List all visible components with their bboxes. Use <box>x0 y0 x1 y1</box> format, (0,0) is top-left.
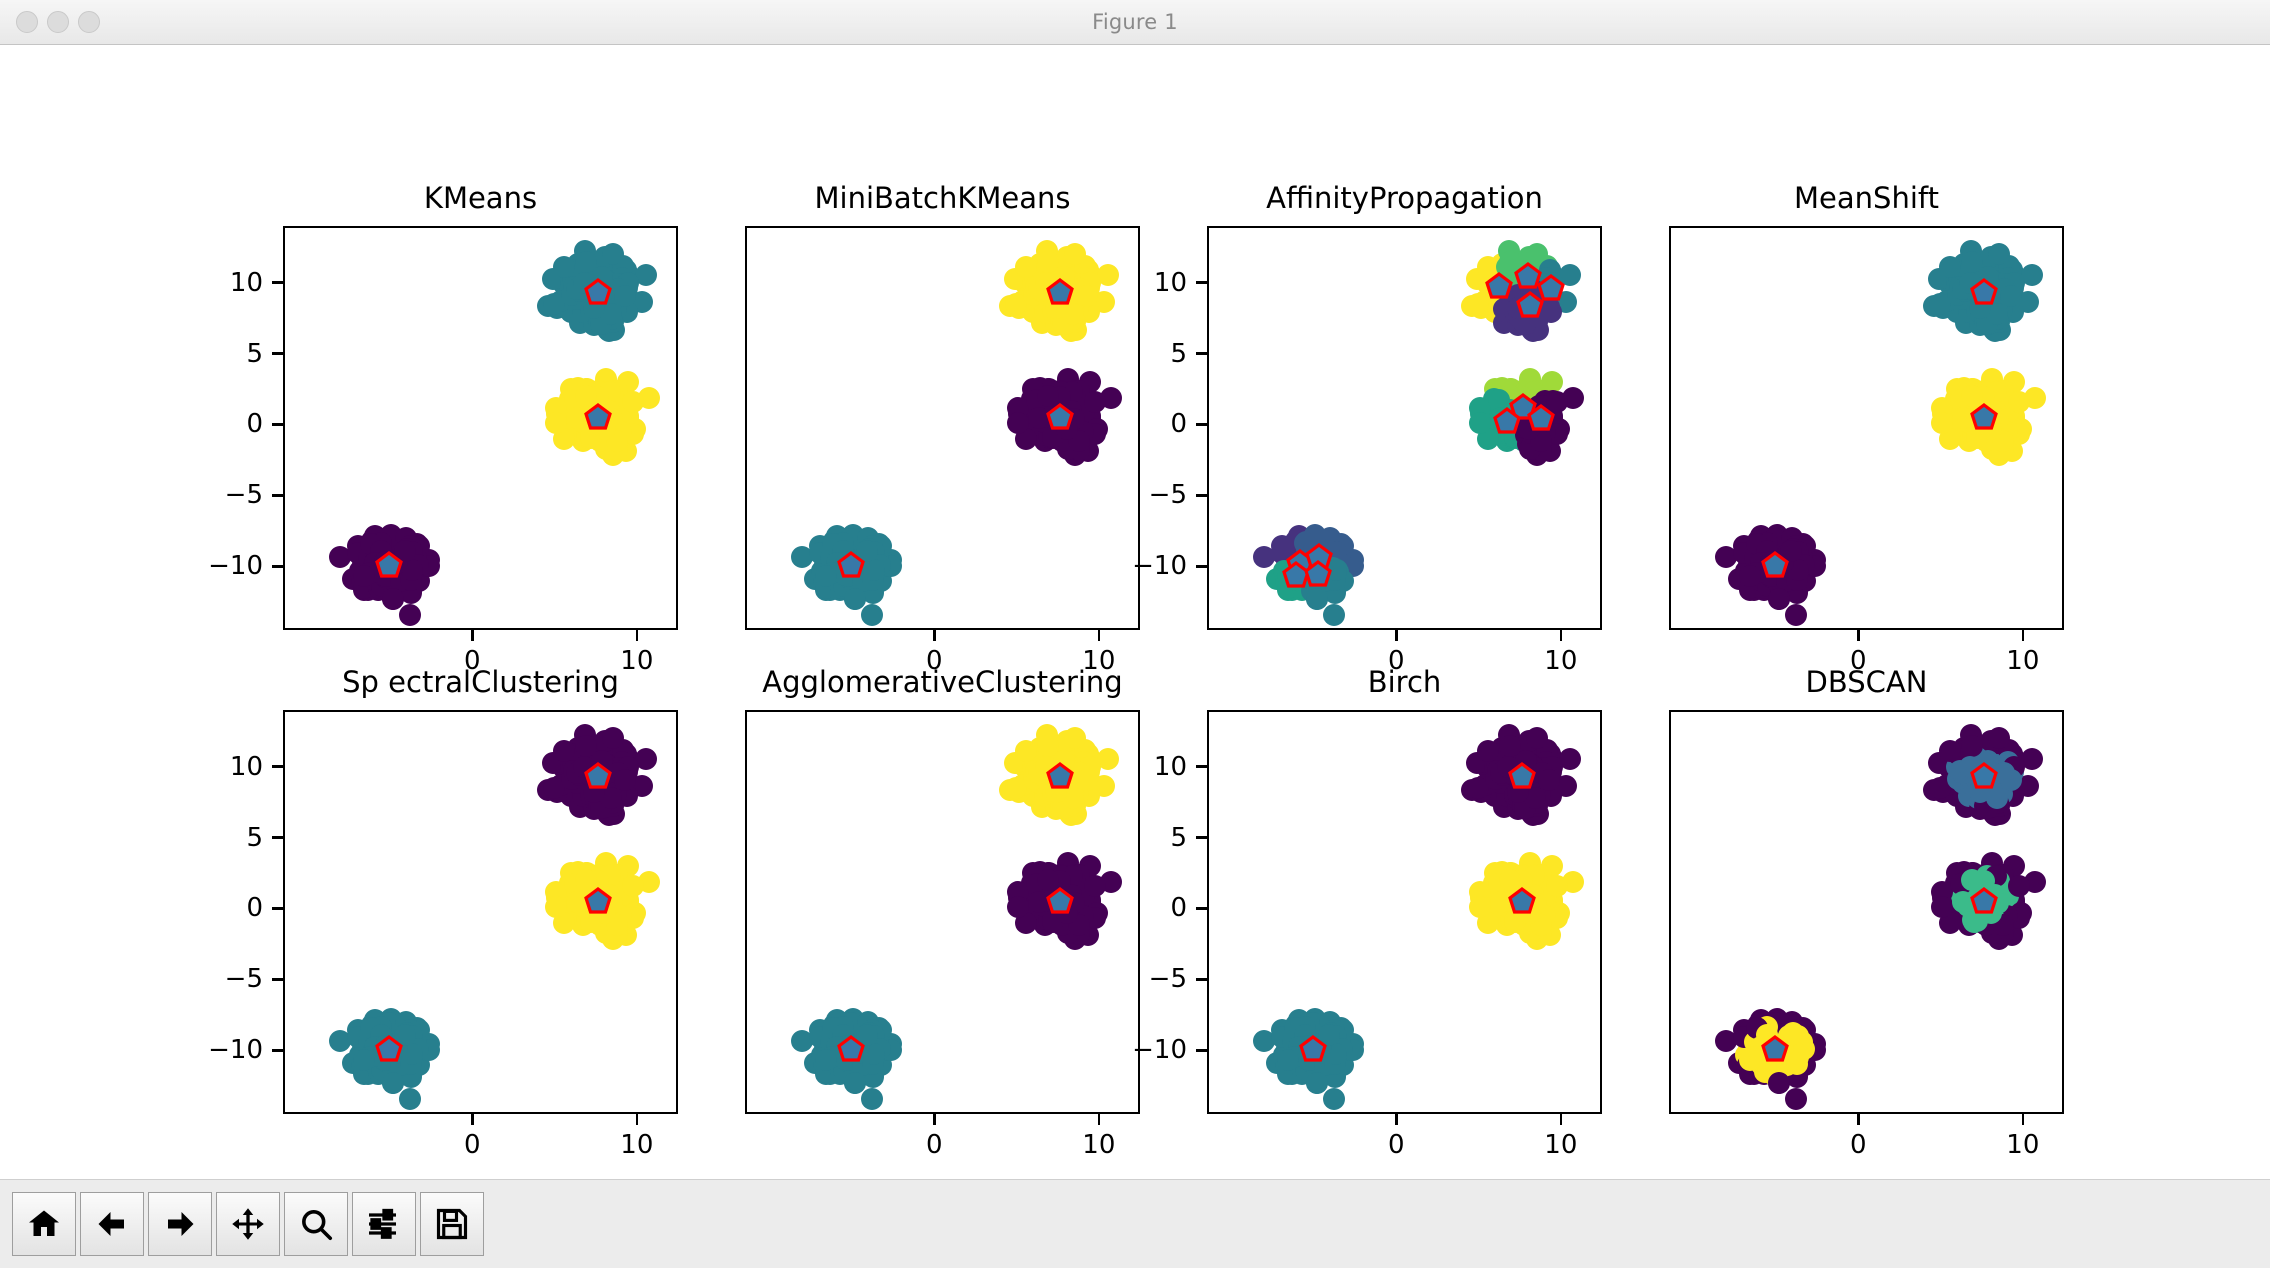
figure-window: Figure 1 KMeans1050−5−10010MiniBatchKMea… <box>0 0 2270 1268</box>
axes-frame[interactable] <box>1669 226 2064 630</box>
y-tick-mark <box>1196 352 1207 355</box>
noise-point <box>2008 875 2030 897</box>
x-tick-mark <box>471 630 474 641</box>
data-point <box>1306 588 1328 610</box>
save-button[interactable] <box>420 1192 484 1256</box>
home-button[interactable] <box>12 1192 76 1256</box>
y-tick-mark <box>1196 765 1207 768</box>
floppy-icon <box>434 1206 470 1242</box>
x-tick-label: 10 <box>1544 1130 1577 1160</box>
subplot-minibatchkmeans: MiniBatchKMeans010 <box>745 226 1140 630</box>
y-tick-label: −10 <box>1132 551 1187 581</box>
configure-subplots-button[interactable] <box>352 1192 416 1256</box>
sliders-icon <box>366 1206 402 1242</box>
data-point <box>575 251 597 273</box>
magnifier-icon <box>298 1206 334 1242</box>
data-point <box>861 604 883 626</box>
y-tick-label: 10 <box>230 268 263 298</box>
axes-frame[interactable] <box>1207 710 1602 1114</box>
y-tick-mark <box>272 765 283 768</box>
data-point <box>1064 727 1086 749</box>
data-point <box>1037 251 1059 273</box>
data-point <box>1277 1049 1299 1071</box>
y-tick-label: −10 <box>208 551 263 581</box>
y-tick-mark <box>1196 281 1207 284</box>
subplot-meanshift: MeanShift010 <box>1669 226 2064 630</box>
x-tick-mark <box>1560 1114 1563 1125</box>
x-tick-mark <box>1560 630 1563 641</box>
axes-frame[interactable] <box>283 226 678 630</box>
subplot-dbscan: DBSCAN010 <box>1669 710 2064 1114</box>
data-point <box>1084 875 1106 897</box>
subplot-birch: Birch1050−5−10010 <box>1207 710 1602 1114</box>
axes-frame[interactable] <box>283 710 678 1114</box>
y-tick-label: 5 <box>246 339 263 369</box>
y-tick-label: −5 <box>225 480 263 510</box>
subplot-title: DBSCAN <box>1806 665 1928 699</box>
axes-frame[interactable] <box>1207 226 1602 630</box>
data-point <box>1306 1072 1328 1094</box>
data-point <box>1988 243 2010 265</box>
y-tick-label: 10 <box>1154 268 1187 298</box>
data-point <box>382 588 404 610</box>
data-point <box>399 604 421 626</box>
data-point <box>1768 588 1790 610</box>
data-point <box>353 1049 375 1071</box>
y-tick-mark <box>272 1049 283 1052</box>
y-tick-label: −10 <box>208 1035 263 1065</box>
move-icon <box>230 1206 266 1242</box>
data-point <box>1739 565 1761 587</box>
data-point <box>1323 1088 1345 1110</box>
x-tick-label: 10 <box>620 1130 653 1160</box>
window-titlebar: Figure 1 <box>0 0 2270 45</box>
x-tick-label: 10 <box>1544 646 1577 676</box>
y-tick-mark <box>272 978 283 981</box>
y-tick-label: 0 <box>1170 893 1187 923</box>
subplot-agglomerativeclustering: AgglomerativeClustering010 <box>745 710 1140 1114</box>
subplot-title: AgglomerativeClustering <box>762 665 1122 699</box>
data-point <box>602 243 624 265</box>
subplot-affinitypropagation: AffinityPropagation1050−5−10010 <box>1207 226 1602 630</box>
noise-point <box>1768 1072 1790 1094</box>
data-point <box>861 1088 883 1110</box>
y-tick-label: 0 <box>246 409 263 439</box>
noise-point <box>1961 735 1983 757</box>
data-point <box>1739 1049 1761 1071</box>
subplot-grid: KMeans1050−5−10010MiniBatchKMeans010Affi… <box>0 45 2270 1181</box>
y-tick-mark <box>272 281 283 284</box>
x-tick-mark <box>1395 1114 1398 1125</box>
y-tick-mark <box>272 907 283 910</box>
data-point <box>2008 391 2030 413</box>
data-point <box>844 1072 866 1094</box>
subplot-kmeans: KMeans1050−5−10010 <box>283 226 678 630</box>
y-tick-mark <box>1196 494 1207 497</box>
data-point <box>382 1072 404 1094</box>
x-tick-label: 10 <box>2006 646 2039 676</box>
subplot-title: KMeans <box>424 181 537 215</box>
y-tick-label: 0 <box>1170 409 1187 439</box>
data-point <box>1037 735 1059 757</box>
x-tick-mark <box>2022 1114 2025 1125</box>
y-tick-mark <box>272 494 283 497</box>
data-point <box>575 735 597 757</box>
data-point <box>399 1088 421 1110</box>
axes-frame[interactable] <box>745 710 1140 1114</box>
y-tick-mark <box>1196 836 1207 839</box>
noise-point <box>1785 1088 1807 1110</box>
data-point <box>353 565 375 587</box>
y-tick-label: 5 <box>246 823 263 853</box>
data-point <box>1499 735 1521 757</box>
data-point <box>815 565 837 587</box>
subplot-title: AffinityPropagation <box>1266 181 1543 215</box>
y-tick-label: −5 <box>225 964 263 994</box>
x-tick-mark <box>1098 630 1101 641</box>
window-title: Figure 1 <box>0 10 2270 34</box>
x-tick-mark <box>933 630 936 641</box>
y-tick-mark <box>272 352 283 355</box>
data-point <box>622 875 644 897</box>
x-tick-mark <box>636 630 639 641</box>
x-tick-mark <box>933 1114 936 1125</box>
x-tick-mark <box>1395 630 1398 641</box>
x-tick-label: 0 <box>464 1130 481 1160</box>
x-tick-mark <box>2022 630 2025 641</box>
subplot-title: MeanShift <box>1794 181 1939 215</box>
y-tick-mark <box>1196 565 1207 568</box>
data-point <box>1084 391 1106 413</box>
data-point <box>1546 875 1568 897</box>
subplot-title: Birch <box>1368 665 1442 699</box>
y-tick-mark <box>272 836 283 839</box>
y-tick-label: −5 <box>1149 964 1187 994</box>
subplot-title: Sp ectralClustering <box>342 665 619 699</box>
y-tick-mark <box>1196 1049 1207 1052</box>
pan-button[interactable] <box>216 1192 280 1256</box>
x-tick-mark <box>1857 630 1860 641</box>
y-tick-mark <box>1196 907 1207 910</box>
y-tick-label: 10 <box>1154 752 1187 782</box>
data-point <box>622 391 644 413</box>
x-tick-label: 10 <box>1082 1130 1115 1160</box>
figure-canvas[interactable]: KMeans1050−5−10010MiniBatchKMeans010Affi… <box>0 45 2270 1179</box>
y-tick-label: 5 <box>1170 339 1187 369</box>
y-tick-label: 5 <box>1170 823 1187 853</box>
data-point <box>1526 727 1548 749</box>
y-tick-mark <box>1196 978 1207 981</box>
axes-frame[interactable] <box>1669 710 2064 1114</box>
y-tick-label: −5 <box>1149 480 1187 510</box>
x-tick-label: 0 <box>1388 1130 1405 1160</box>
data-point <box>1961 251 1983 273</box>
y-tick-mark <box>272 423 283 426</box>
data-point <box>1785 604 1807 626</box>
data-point <box>1064 243 1086 265</box>
x-tick-mark <box>1857 1114 1860 1125</box>
subplot-sp-ectralclustering: Sp ectralClustering1050−5−10010 <box>283 710 678 1114</box>
y-tick-label: −10 <box>1132 1035 1187 1065</box>
data-point <box>602 727 624 749</box>
arrow-left-icon <box>94 1206 130 1242</box>
home-icon <box>26 1206 62 1242</box>
axes-frame[interactable] <box>745 226 1140 630</box>
y-tick-label: 0 <box>246 893 263 923</box>
data-point <box>1323 604 1345 626</box>
y-tick-mark <box>1196 423 1207 426</box>
x-tick-label: 0 <box>926 1130 943 1160</box>
noise-point <box>1988 727 2010 749</box>
data-point <box>815 1049 837 1071</box>
x-tick-mark <box>1098 1114 1101 1125</box>
arrow-right-icon <box>162 1206 198 1242</box>
x-tick-label: 10 <box>2006 1130 2039 1160</box>
x-tick-label: 10 <box>620 646 653 676</box>
y-tick-label: 10 <box>230 752 263 782</box>
x-tick-label: 0 <box>1850 1130 1867 1160</box>
navigation-toolbar <box>0 1179 2270 1268</box>
x-tick-mark <box>636 1114 639 1125</box>
zoom-button[interactable] <box>284 1192 348 1256</box>
data-point <box>844 588 866 610</box>
subplot-title: MiniBatchKMeans <box>814 181 1070 215</box>
x-tick-mark <box>471 1114 474 1125</box>
forward-button[interactable] <box>148 1192 212 1256</box>
back-button[interactable] <box>80 1192 144 1256</box>
y-tick-mark <box>272 565 283 568</box>
